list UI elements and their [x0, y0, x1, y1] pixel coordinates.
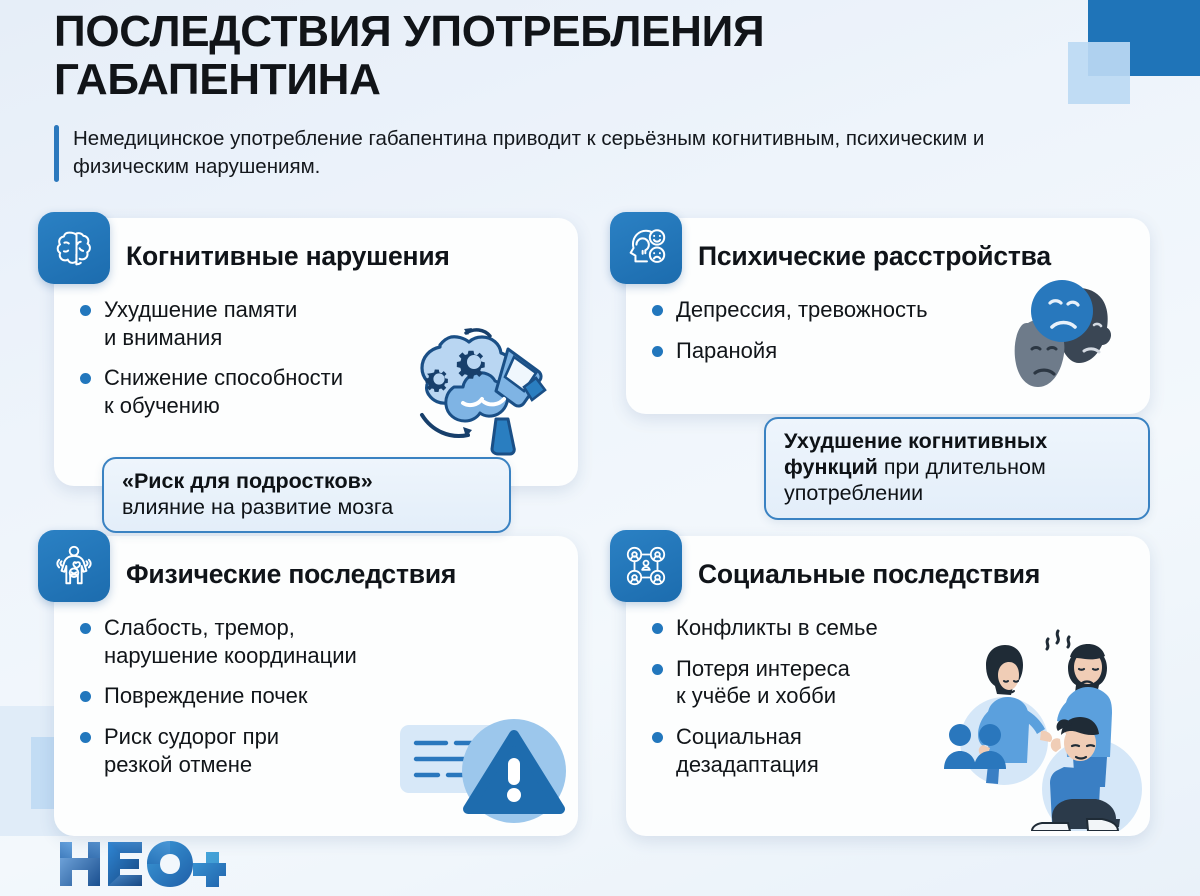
- bullet-dot-icon: [80, 623, 91, 634]
- list-item: Социальная дезадаптация: [652, 723, 1132, 778]
- card-social-title: Социальные последствия: [698, 558, 1040, 589]
- list-item: Повреждение почек: [80, 682, 560, 710]
- callout-teen-risk-text: влияние на развитие мозга: [122, 494, 491, 520]
- neo-plus-logo: [58, 840, 226, 888]
- callout-teen-risk-title: «Риск для подростков»: [122, 468, 491, 494]
- bullet-dot-icon: [652, 346, 663, 357]
- card-physical: Физические последствия: [54, 536, 578, 836]
- card-cognitive-bullets: Ухудшение памяти и внимания Снижение спо…: [80, 296, 578, 420]
- brain-icon: [38, 212, 110, 284]
- card-social-bullets: Конфликты в семье Потеря интереса к учёб…: [652, 614, 1150, 779]
- list-item: Риск судорог при резкой отмене: [80, 723, 560, 778]
- card-physical-title: Физические последствия: [126, 558, 456, 589]
- list-item: Паранойя: [652, 337, 1132, 365]
- bullet-dot-icon: [652, 664, 663, 675]
- callout-long-term-text: Ухудшение когнитивных функций при длител…: [784, 428, 1130, 507]
- decorative-square-light: [1068, 42, 1130, 104]
- card-cognitive-title: Когнитивные нарушения: [126, 240, 450, 271]
- callout-long-term: Ухудшение когнитивных функций при длител…: [764, 417, 1150, 520]
- card-cognitive-header: Когнитивные нарушения: [54, 218, 578, 294]
- page-subtitle: Немедицинское употребление габапентина п…: [73, 125, 1023, 182]
- list-item: Потеря интереса к учёбе и хобби: [652, 655, 1132, 710]
- bullet-label: Конфликты в семье: [676, 614, 878, 642]
- subtitle-accent-bar: [54, 125, 59, 182]
- bullet-label: Снижение способности к обучению: [104, 364, 343, 419]
- list-item: Снижение способности к обучению: [80, 364, 560, 419]
- card-mental-bullets: Депрессия, тревожность Паранойя: [652, 296, 1150, 364]
- header: ПОСЛЕДСТВИЯ УПОТРЕБЛЕНИЯ ГАБАПЕНТИНА Нем…: [54, 8, 1054, 182]
- bullet-label: Потеря интереса к учёбе и хобби: [676, 655, 850, 710]
- bullet-dot-icon: [80, 732, 91, 743]
- card-social: Социальные последствия: [626, 536, 1150, 836]
- bullet-dot-icon: [80, 373, 91, 384]
- card-physical-bullets: Слабость, тремор, нарушение координации …: [80, 614, 578, 779]
- card-mental-title: Психические расстройства: [698, 240, 1051, 271]
- callout-teen-risk: «Риск для подростков» влияние на развити…: [102, 457, 511, 533]
- infographic-canvas: ПОСЛЕДСТВИЯ УПОТРЕБЛЕНИЯ ГАБАПЕНТИНА Нем…: [0, 0, 1200, 896]
- list-item: Ухудшение памяти и внимания: [80, 296, 560, 351]
- page-title: ПОСЛЕДСТВИЯ УПОТРЕБЛЕНИЯ ГАБАПЕНТИНА: [54, 8, 884, 103]
- card-social-header: Социальные последствия: [626, 536, 1150, 612]
- bullet-dot-icon: [80, 691, 91, 702]
- card-mental: Психические расстройства: [626, 218, 1150, 414]
- bullet-label: Депрессия, тревожность: [676, 296, 928, 324]
- card-cognitive: Когнитивные нарушения: [54, 218, 578, 486]
- subtitle-block: Немедицинское употребление габапентина п…: [54, 125, 1054, 182]
- bullet-label: Повреждение почек: [104, 682, 308, 710]
- bullet-label: Риск судорог при резкой отмене: [104, 723, 279, 778]
- list-item: Слабость, тремор, нарушение координации: [80, 614, 560, 669]
- head-emotions-icon: [610, 212, 682, 284]
- bullet-label: Слабость, тремор, нарушение координации: [104, 614, 357, 669]
- bullet-label: Паранойя: [676, 337, 777, 365]
- people-network-icon: [610, 530, 682, 602]
- body-organs-icon: [38, 530, 110, 602]
- card-physical-header: Физические последствия: [54, 536, 578, 612]
- bullet-dot-icon: [652, 305, 663, 316]
- bullet-dot-icon: [652, 623, 663, 634]
- bullet-label: Ухудшение памяти и внимания: [104, 296, 297, 351]
- bullet-label: Социальная дезадаптация: [676, 723, 819, 778]
- list-item: Конфликты в семье: [652, 614, 1132, 642]
- card-mental-header: Психические расстройства: [626, 218, 1150, 294]
- list-item: Депрессия, тревожность: [652, 296, 1132, 324]
- bullet-dot-icon: [652, 732, 663, 743]
- bullet-dot-icon: [80, 305, 91, 316]
